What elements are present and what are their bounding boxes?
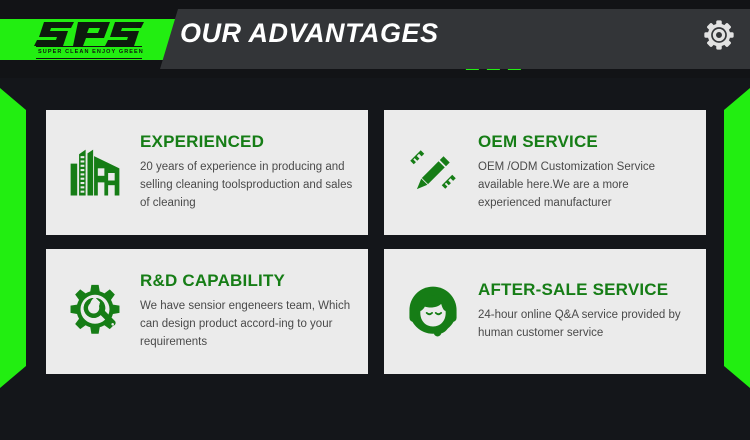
right-accent-chevron <box>724 88 750 388</box>
card-title: R&D CAPABILITY <box>140 271 354 291</box>
page-header: OUR ADVANTAGES ® SUPER CLEAN ENJOY GREEN <box>0 0 750 78</box>
advantages-grid: EXPERIENCED 20 years of experience in pr… <box>46 110 706 374</box>
advantage-card-after-sale-service[interactable]: AFTER-SALE SERVICE 24-hour online Q&A se… <box>384 249 706 374</box>
card-icon-wrapper <box>62 140 128 206</box>
registered-trademark-mark: ® <box>136 23 141 30</box>
card-description: 20 years of experience in producing and … <box>140 159 354 212</box>
card-title: AFTER-SALE SERVICE <box>478 280 692 300</box>
brand-logo[interactable]: ® SUPER CLEAN ENJOY GREEN <box>34 20 152 60</box>
card-body: EXPERIENCED 20 years of experience in pr… <box>140 132 354 212</box>
card-icon-wrapper <box>400 140 466 206</box>
gear-icon[interactable] <box>702 18 736 52</box>
headset-agent-icon <box>404 283 462 341</box>
sps-logo-icon <box>34 20 144 48</box>
card-description: OEM /ODM Customization Service available… <box>478 159 692 212</box>
factory-building-icon <box>65 143 125 203</box>
pencil-ruler-icon <box>405 145 461 201</box>
card-body: R&D CAPABILITY We have sensior engeneers… <box>140 271 354 351</box>
advantage-card-experienced[interactable]: EXPERIENCED 20 years of experience in pr… <box>46 110 368 235</box>
advantage-card-oem-service[interactable]: OEM SERVICE OEM /ODM Customization Servi… <box>384 110 706 235</box>
card-title: OEM SERVICE <box>478 132 692 152</box>
card-title: EXPERIENCED <box>140 132 354 152</box>
card-description: We have sensior engeneers team, Which ca… <box>140 298 354 351</box>
logo-divider-rule <box>36 58 142 59</box>
card-icon-wrapper <box>400 279 466 345</box>
left-accent-chevron <box>0 88 26 388</box>
page-title: OUR ADVANTAGES <box>180 18 439 49</box>
card-icon-wrapper <box>62 279 128 345</box>
gear-wrench-icon <box>66 283 124 341</box>
card-body: OEM SERVICE OEM /ODM Customization Servi… <box>478 132 692 212</box>
card-body: AFTER-SALE SERVICE 24-hour online Q&A se… <box>478 280 692 343</box>
card-description: 24-hour online Q&A service provided by h… <box>478 307 692 343</box>
logo-divider-rule <box>36 46 142 47</box>
logo-tagline: SUPER CLEAN ENJOY GREEN <box>38 49 144 55</box>
advantage-card-rnd-capability[interactable]: R&D CAPABILITY We have sensior engeneers… <box>46 249 368 374</box>
